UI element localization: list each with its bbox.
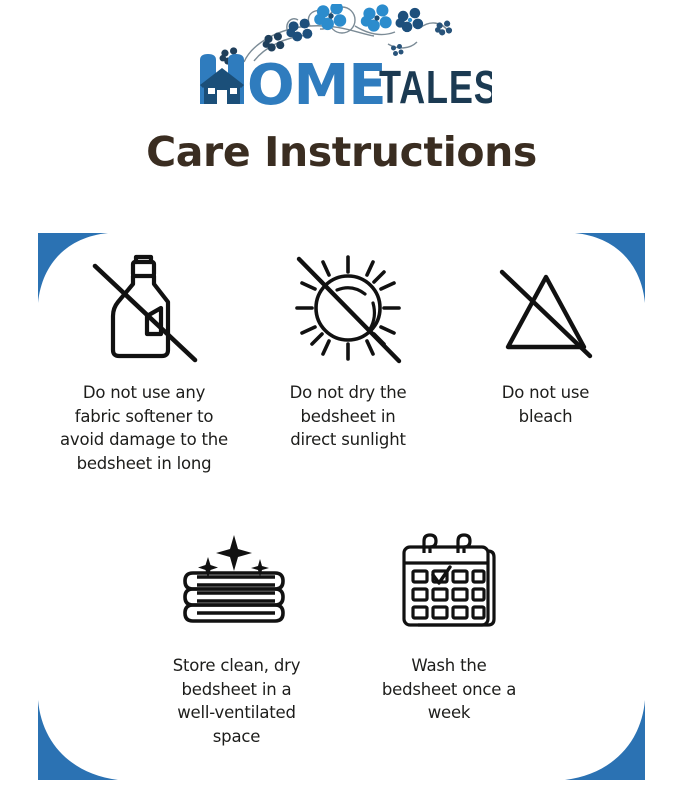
brand-logo: OME TALES: [0, 0, 683, 118]
icon-wrapper: [392, 516, 506, 646]
no-bleach-icon: [488, 252, 604, 364]
instruction-item-no-direct-sunlight: Do not dry the bedsheet in direct sunlig…: [250, 243, 446, 475]
icon-wrapper: [488, 243, 604, 373]
no-direct-sunlight-icon: [285, 245, 411, 371]
instruction-row-1: Do not use any fabric softener to avoid …: [38, 243, 645, 475]
instruction-item-wash-weekly: Wash the bedsheet once a week: [344, 516, 554, 748]
instruction-item-store-clean-dry: Store clean, dry bedsheet in a well-vent…: [129, 516, 344, 748]
svg-text:OME: OME: [247, 53, 386, 108]
instruction-item-no-fabric-softener: Do not use any fabric softener to avoid …: [38, 243, 250, 475]
svg-text:TALES: TALES: [379, 60, 492, 108]
icon-wrapper: [175, 516, 299, 646]
icon-wrapper: [83, 243, 205, 373]
instruction-caption: Do not dry the bedsheet in direct sunlig…: [290, 381, 407, 452]
instruction-caption: Do not use any fabric softener to avoid …: [60, 381, 228, 475]
instruction-caption: Do not use bleach: [502, 381, 590, 428]
calendar-icon: [392, 525, 506, 637]
care-instructions-panel: Do not use any fabric softener to avoid …: [38, 233, 645, 780]
instruction-row-2: Store clean, dry bedsheet in a well-vent…: [38, 516, 645, 748]
instruction-caption: Wash the bedsheet once a week: [382, 654, 516, 725]
brand-wordmark: OME TALES: [192, 46, 492, 108]
folded-towels-icon: [175, 525, 299, 637]
page-title: Care Instructions: [0, 128, 683, 176]
no-fabric-softener-icon: [83, 244, 205, 372]
instruction-caption: Store clean, dry bedsheet in a well-vent…: [173, 654, 301, 748]
icon-wrapper: [285, 243, 411, 373]
instruction-item-no-bleach: Do not use bleach: [446, 243, 645, 475]
